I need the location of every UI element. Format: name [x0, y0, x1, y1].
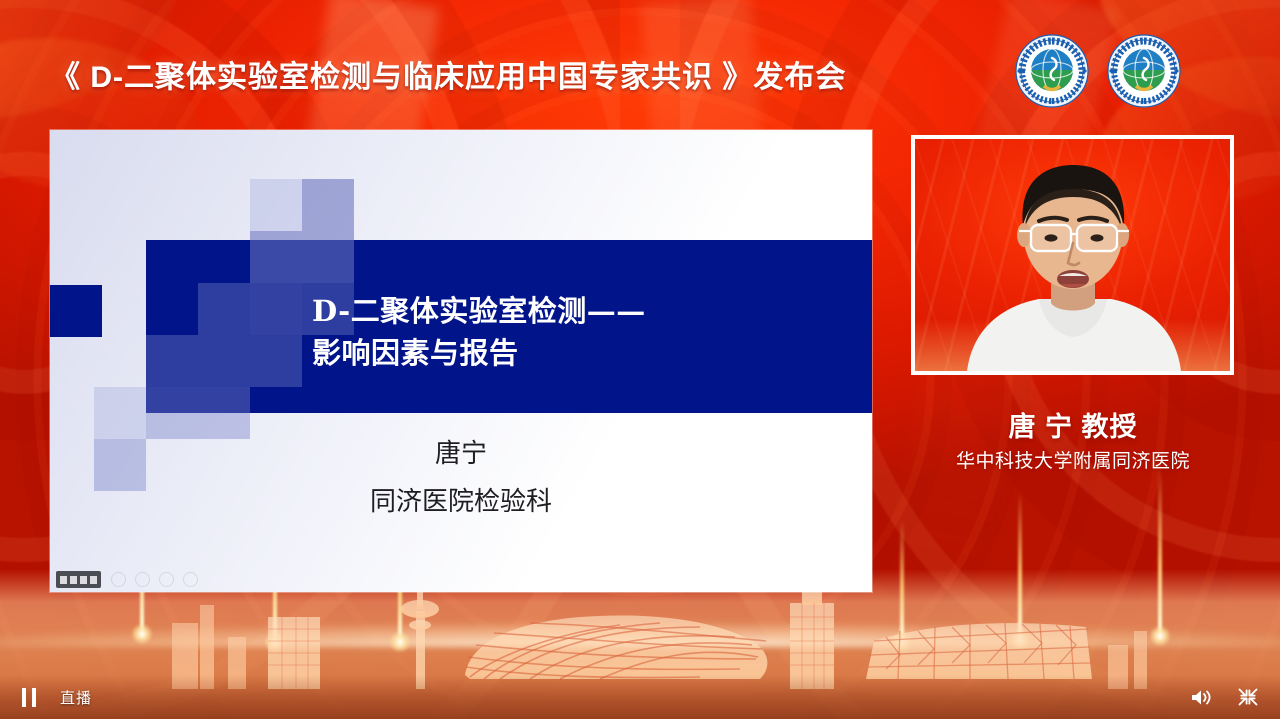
- header: 《 D-二聚体实验室检测与临床应用中国专家共识 》发布会: [0, 0, 1280, 130]
- beijing-skyline: [0, 579, 1280, 689]
- slideshow-toolbar[interactable]: [56, 571, 198, 588]
- pause-icon[interactable]: [22, 688, 36, 707]
- slide-title-line1: D-二聚体实验室检测——: [312, 290, 832, 332]
- speaker-video-frame[interactable]: [911, 135, 1234, 375]
- slide-presenter-name: 唐宁: [50, 430, 872, 478]
- laser-button-icon: [159, 572, 174, 587]
- speaker-organization: 华中科技大学附属同济医院: [905, 446, 1241, 473]
- next-slide-icon: [90, 576, 97, 584]
- slide-title: D-二聚体实验室检测—— 影响因素与报告: [312, 290, 832, 374]
- pen-icon: [80, 576, 87, 584]
- slide-deco-square: [198, 335, 250, 387]
- speaker-portrait: [915, 139, 1230, 371]
- slide-deco-square: [302, 179, 354, 231]
- zoom-button-icon: [135, 572, 150, 587]
- slide-department: 同济医院检验科: [50, 478, 872, 526]
- player-right-controls: [1190, 687, 1280, 707]
- slideshow-ghost-controls[interactable]: [111, 572, 198, 587]
- pen-button-icon: [111, 572, 126, 587]
- presentation-slide[interactable]: D-二聚体实验室检测—— 影响因素与报告 唐宁 同济医院检验科: [50, 130, 872, 592]
- slide-deco-square: [250, 231, 302, 283]
- slideshow-toolbar-chip[interactable]: [56, 571, 101, 588]
- slide-title-line2: 影响因素与报告: [312, 332, 832, 374]
- medical-association-logo-left: [1014, 28, 1090, 114]
- logo-group: [1014, 28, 1182, 114]
- speaker-name: 唐 宁 教授: [905, 405, 1241, 444]
- slide-deco-square: [250, 179, 302, 231]
- slide-subtitle: 唐宁 同济医院检验科: [50, 430, 872, 526]
- speaker-webcam[interactable]: [915, 139, 1230, 371]
- live-label[interactable]: 直播: [60, 687, 92, 708]
- slide-deco-square: [146, 335, 198, 387]
- exit-fullscreen-icon[interactable]: [1238, 687, 1258, 707]
- livestream-screen: 《 D-二聚体实验室检测与临床应用中国专家共识 》发布会: [0, 0, 1280, 719]
- player-left-controls: 直播: [0, 687, 92, 708]
- more-button-icon: [183, 572, 198, 587]
- menu-icon: [70, 576, 77, 584]
- volume-icon[interactable]: [1190, 688, 1212, 707]
- event-title: 《 D-二聚体实验室检测与临床应用中国专家共识 》发布会: [50, 52, 846, 96]
- slide-deco-square: [198, 283, 250, 335]
- prev-slide-icon: [60, 576, 67, 584]
- slide-deco-square: [250, 283, 302, 335]
- medical-association-logo-right: [1106, 28, 1182, 114]
- player-controls-bar: 直播: [0, 675, 1280, 719]
- slide-navy-square: [50, 285, 102, 337]
- slide-deco-square: [302, 231, 354, 283]
- slide-deco-square: [250, 335, 302, 387]
